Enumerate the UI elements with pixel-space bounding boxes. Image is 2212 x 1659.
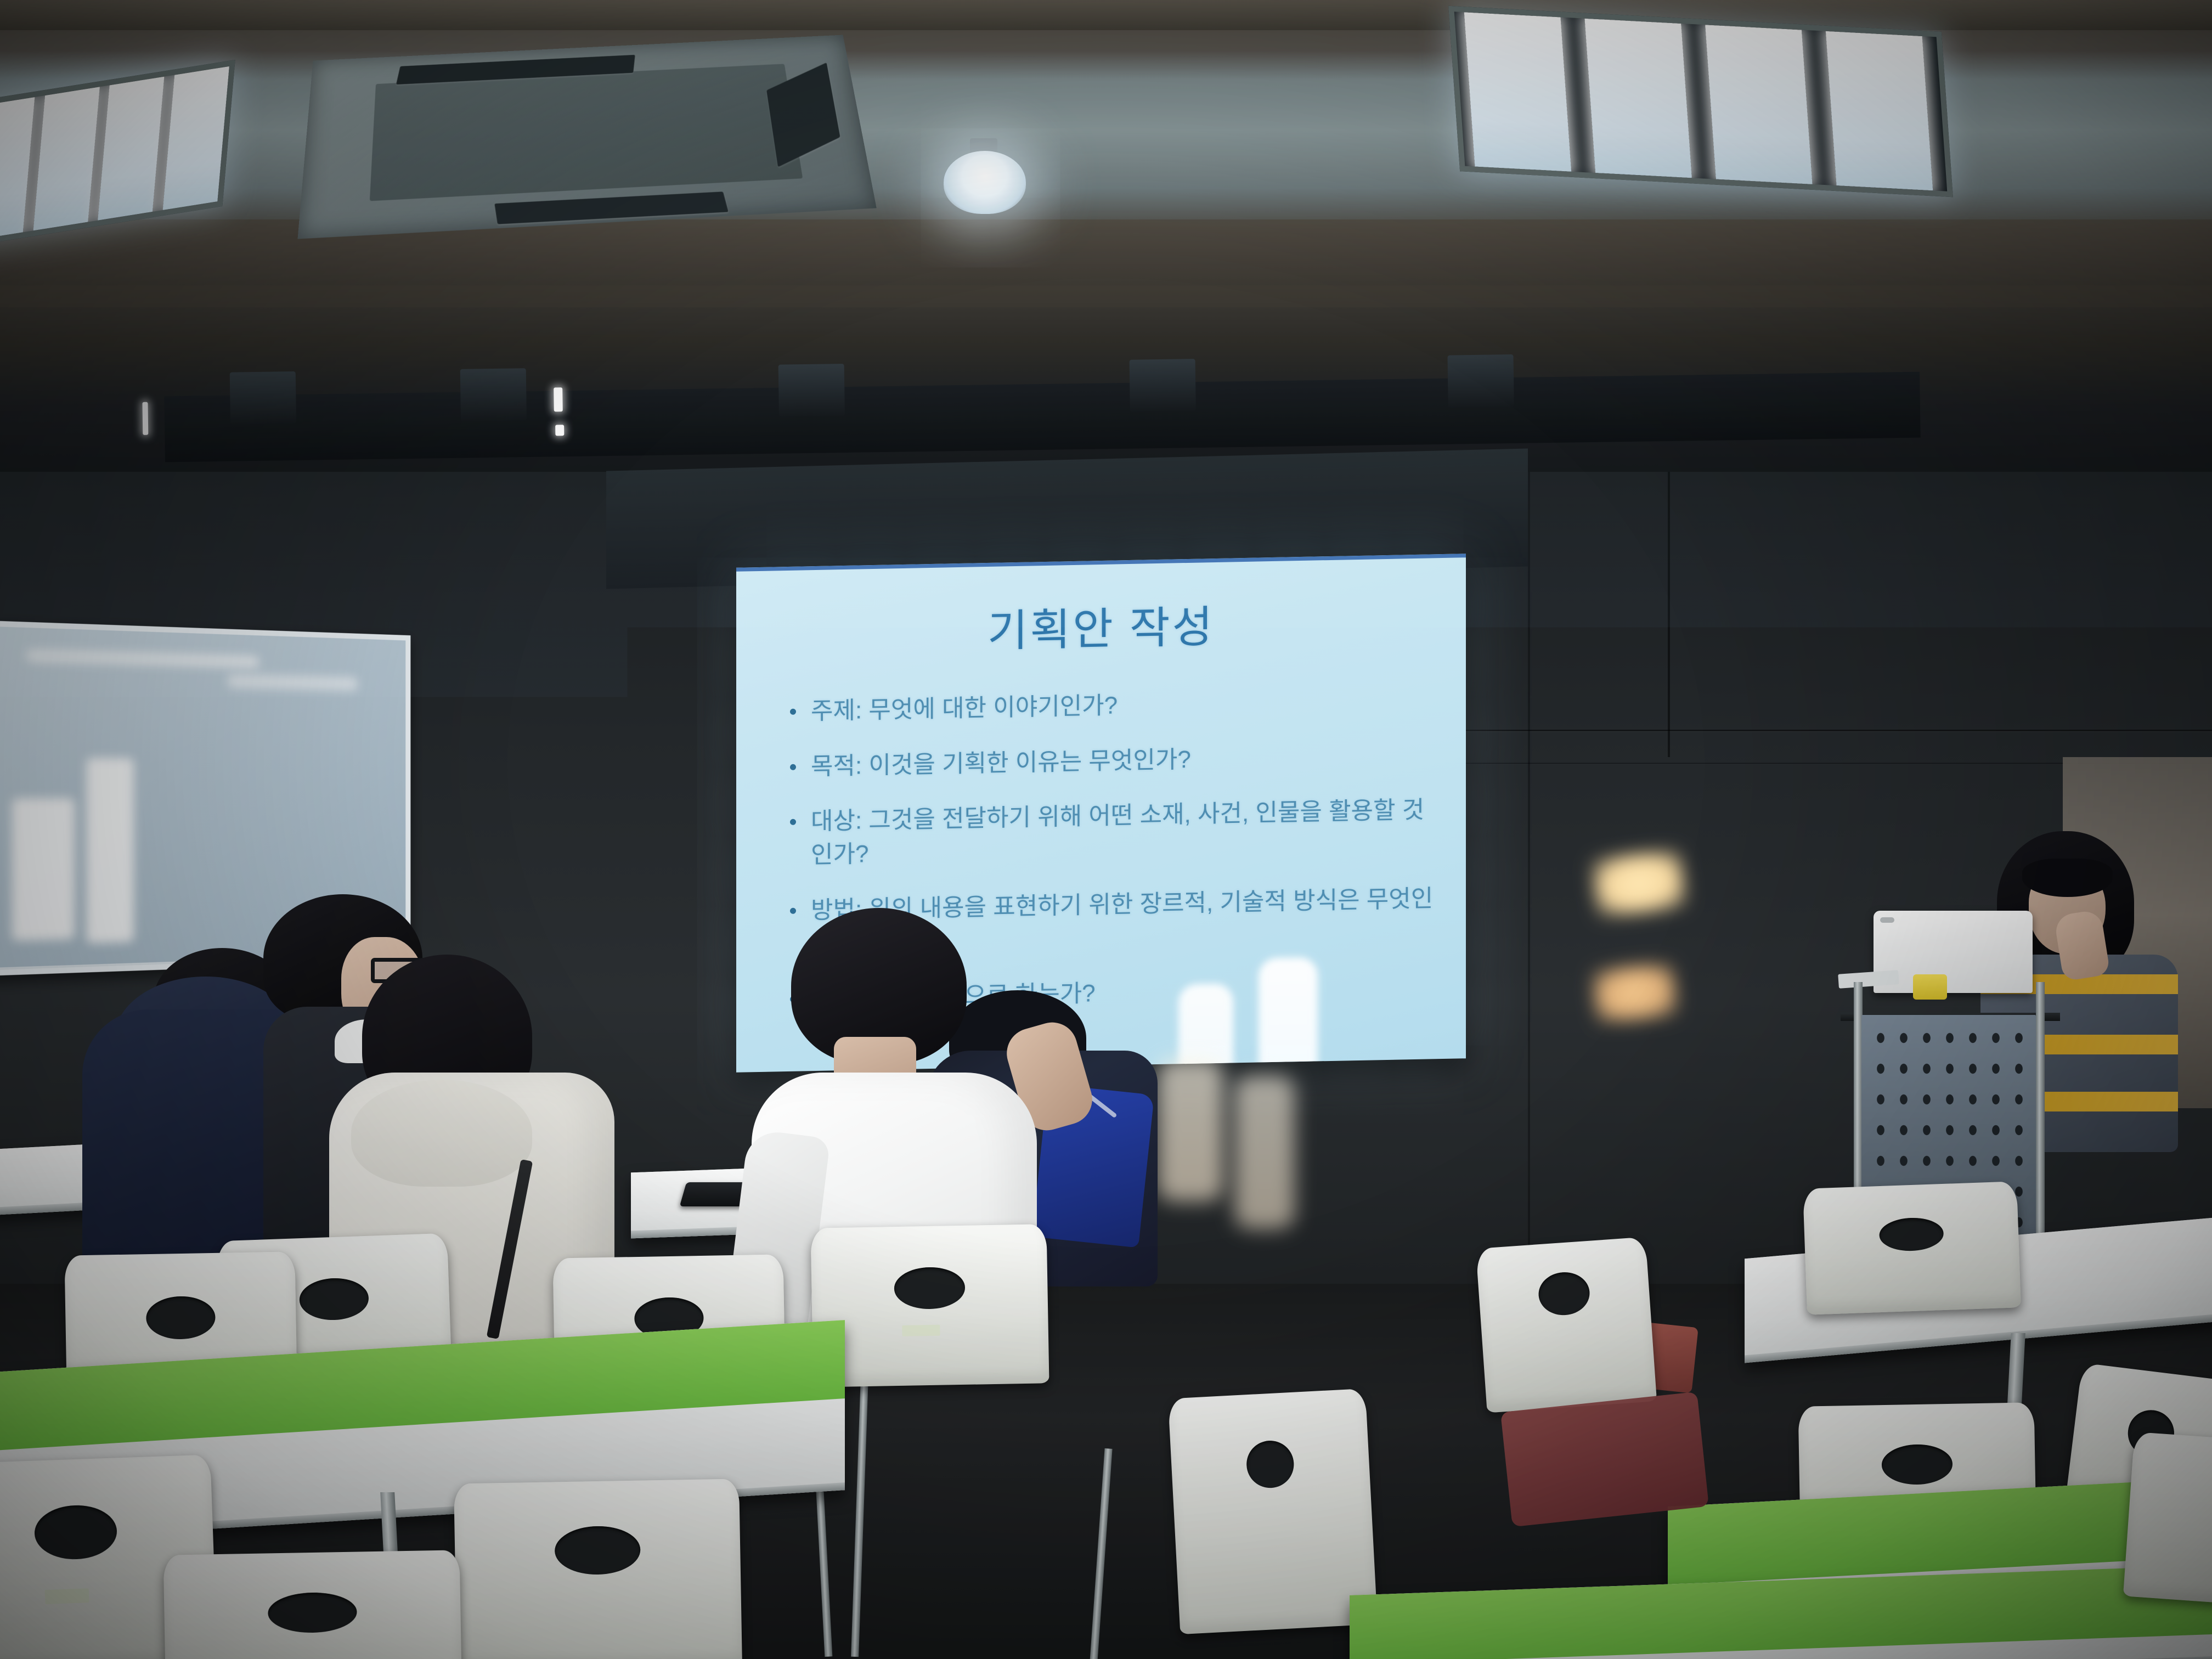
track-light-icon xyxy=(1130,359,1196,412)
whiteboard-reflection xyxy=(227,674,358,691)
track-light-icon xyxy=(1448,354,1514,408)
chair[interactable] xyxy=(811,1224,1049,1387)
chair-red[interactable] xyxy=(1500,1392,1709,1527)
laptop-camera-icon xyxy=(1880,917,1894,923)
track-light-icon xyxy=(460,368,527,421)
truss-glint xyxy=(555,425,564,436)
wall-panel-edge xyxy=(1528,472,1530,1350)
chair[interactable] xyxy=(2123,1432,2212,1607)
hair-fringe xyxy=(2022,859,2113,897)
slide-bullet: 목적: 이것을 기획한 이유는 무엇인가? xyxy=(780,738,1438,785)
truss-glint xyxy=(142,402,148,435)
wall-light-reflection xyxy=(1591,961,1679,1024)
wall-light-reflection xyxy=(1590,848,1688,918)
ac-cassette-inner xyxy=(370,64,803,201)
wall-window-reflection xyxy=(1234,1075,1295,1229)
fluorescent-panel-right xyxy=(1448,6,1953,198)
whiteboard-reflection xyxy=(87,758,134,943)
truss-glint xyxy=(554,387,563,411)
classroom-photo: 기획안 작성 주제: 무엇에 대한 이야기인가? 목적: 이것을 기획한 이유는… xyxy=(0,0,2212,1659)
chair[interactable] xyxy=(1476,1237,1657,1413)
lectern-post xyxy=(2036,982,2045,1267)
chair[interactable] xyxy=(1803,1181,2021,1314)
ceiling xyxy=(0,0,2212,362)
wall-seam xyxy=(1426,730,2212,731)
slide-bullet: 주제: 무엇에 대한 이야기인가? xyxy=(780,683,1438,729)
chair[interactable] xyxy=(1168,1389,1378,1634)
downlight-icon xyxy=(944,151,1026,214)
wall-panel-edge xyxy=(1668,472,1670,757)
chair[interactable] xyxy=(454,1479,742,1659)
chair[interactable] xyxy=(163,1550,462,1659)
whiteboard-reflection xyxy=(12,798,75,941)
ceiling-beam-top xyxy=(0,0,2212,30)
hoodie-hood xyxy=(351,1080,532,1187)
track-light-icon xyxy=(230,371,296,425)
slide-bullet: 대상: 그것을 전달하기 위해 어떤 소재, 사건, 인물을 활용할 것인가? xyxy=(780,794,1438,873)
screen-window-reflection xyxy=(1259,957,1318,1072)
ac-cassette-unit xyxy=(297,35,876,239)
whiteboard-reflection xyxy=(26,649,259,668)
track-light-icon xyxy=(778,364,845,417)
cup[interactable] xyxy=(1913,974,1947,1000)
slide-title: 기획안 작성 xyxy=(736,586,1466,664)
